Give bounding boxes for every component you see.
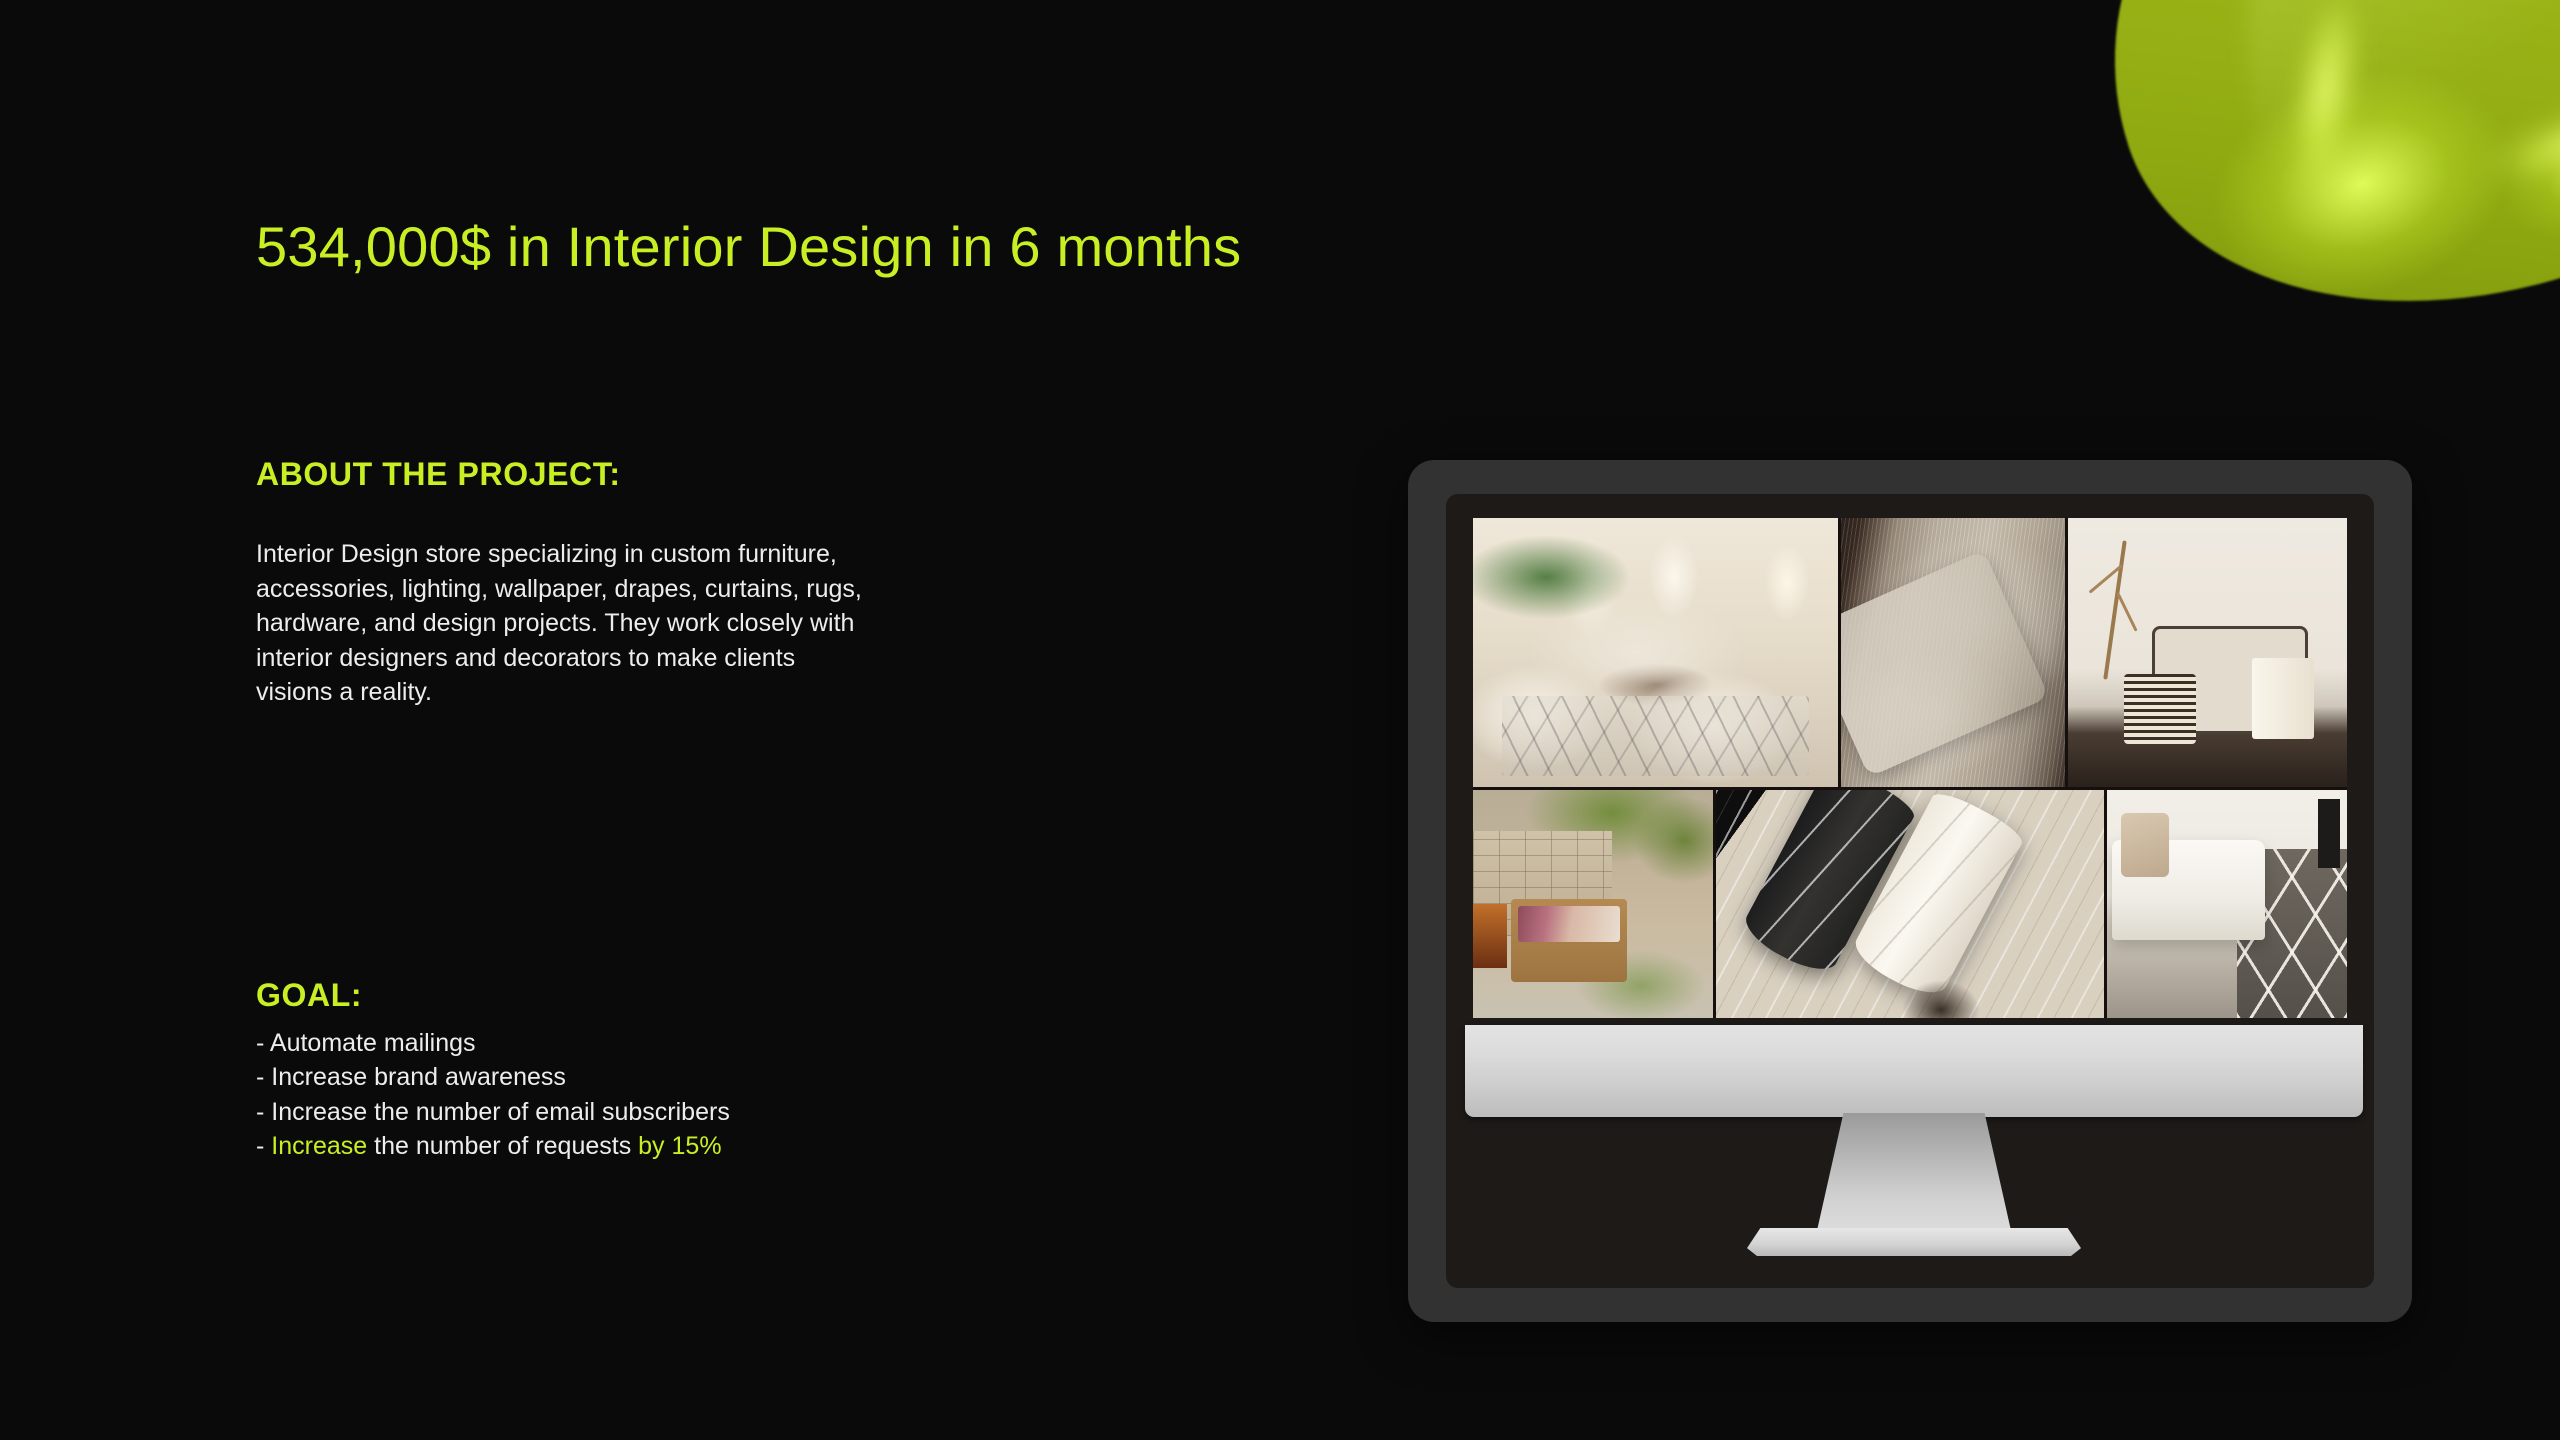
- sofa-wall-artwork: [2318, 799, 2340, 867]
- slide-root: 534,000$ in Interior Design in 6 months …: [0, 0, 2560, 1440]
- green-blob-decoration: [2110, 0, 2560, 310]
- about-body-text: Interior Design store specializing in cu…: [256, 537, 876, 710]
- goal-heading: GOAL:: [256, 977, 1056, 1014]
- blob-highlight-vertical: [2271, 0, 2381, 218]
- goal-dash: -: [256, 1132, 271, 1160]
- collage-image-textile: [1841, 518, 2065, 787]
- sofa-cushion: [2121, 813, 2169, 877]
- decor-candle: [2252, 658, 2313, 739]
- decor-branch-icon: [2103, 540, 2126, 679]
- goal-item: - Increase brand awareness: [256, 1060, 876, 1095]
- monitor-screen: [1473, 518, 2347, 1018]
- goal-middle-text: the number of requests: [367, 1132, 638, 1160]
- collage-image-patio: [1473, 790, 1713, 1018]
- goal-item-highlighted: - Increase the number of requests by 15%: [256, 1129, 876, 1164]
- about-section: ABOUT THE PROJECT: Interior Design store…: [256, 455, 1056, 710]
- patio-chair: [1511, 899, 1626, 981]
- collage-image-decor: [2068, 518, 2347, 787]
- page-title: 534,000$ in Interior Design in 6 months: [256, 216, 1241, 278]
- goal-highlight-percent: by 15%: [638, 1132, 721, 1160]
- collage-bottom-row: [1473, 790, 2347, 1018]
- goal-list: - Automate mailings - Increase brand awa…: [256, 1026, 876, 1164]
- decor-vase: [2124, 674, 2197, 744]
- collage-top-row: [1473, 518, 2347, 787]
- blob-highlight-horizontal: [2453, 70, 2560, 209]
- about-heading: ABOUT THE PROJECT:: [256, 455, 1056, 493]
- goal-item: - Automate mailings: [256, 1026, 876, 1061]
- patio-fireplace: [1473, 904, 1507, 968]
- goal-section: GOAL: - Automate mailings - Increase bra…: [256, 977, 1056, 1164]
- goal-highlight-increase: Increase: [271, 1132, 367, 1160]
- blob-shape: [2042, 0, 2560, 393]
- collage-image-living-room: [1473, 518, 1838, 787]
- collage-image-sofa: [2107, 790, 2347, 1018]
- collage-image-wallpaper: [1716, 790, 2104, 1018]
- monitor-chin: [1465, 1025, 2363, 1117]
- goal-item: - Increase the number of email subscribe…: [256, 1095, 876, 1130]
- monitor-stand-base: [1747, 1228, 2081, 1256]
- blob-edge-light: [2185, 0, 2560, 340]
- monitor-stand-neck: [1816, 1113, 2012, 1235]
